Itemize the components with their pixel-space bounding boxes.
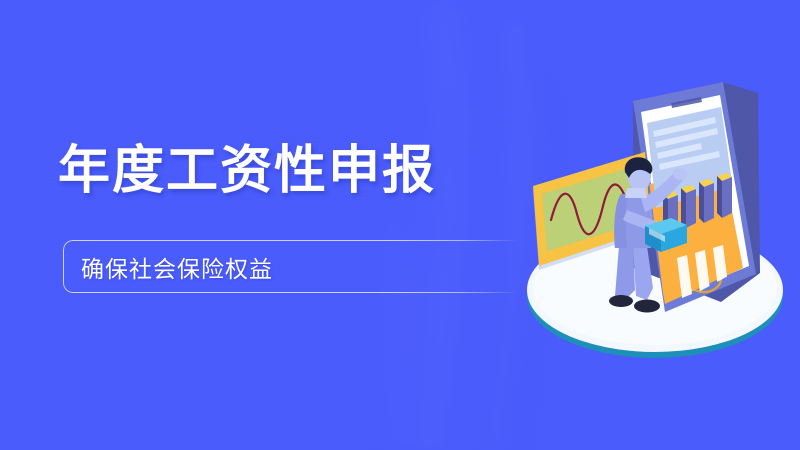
subtitle-block: 确保社会保险权益 (63, 240, 723, 295)
page-title: 年度工资性申报 (58, 140, 436, 202)
subtitle-text: 确保社会保险权益 (81, 240, 273, 293)
headline-block: 年度工资性申报 (58, 140, 436, 202)
illustration-isometric-data-analysis (515, 68, 800, 378)
promo-banner: 年度工资性申报 确保社会保险权益 (0, 0, 800, 450)
